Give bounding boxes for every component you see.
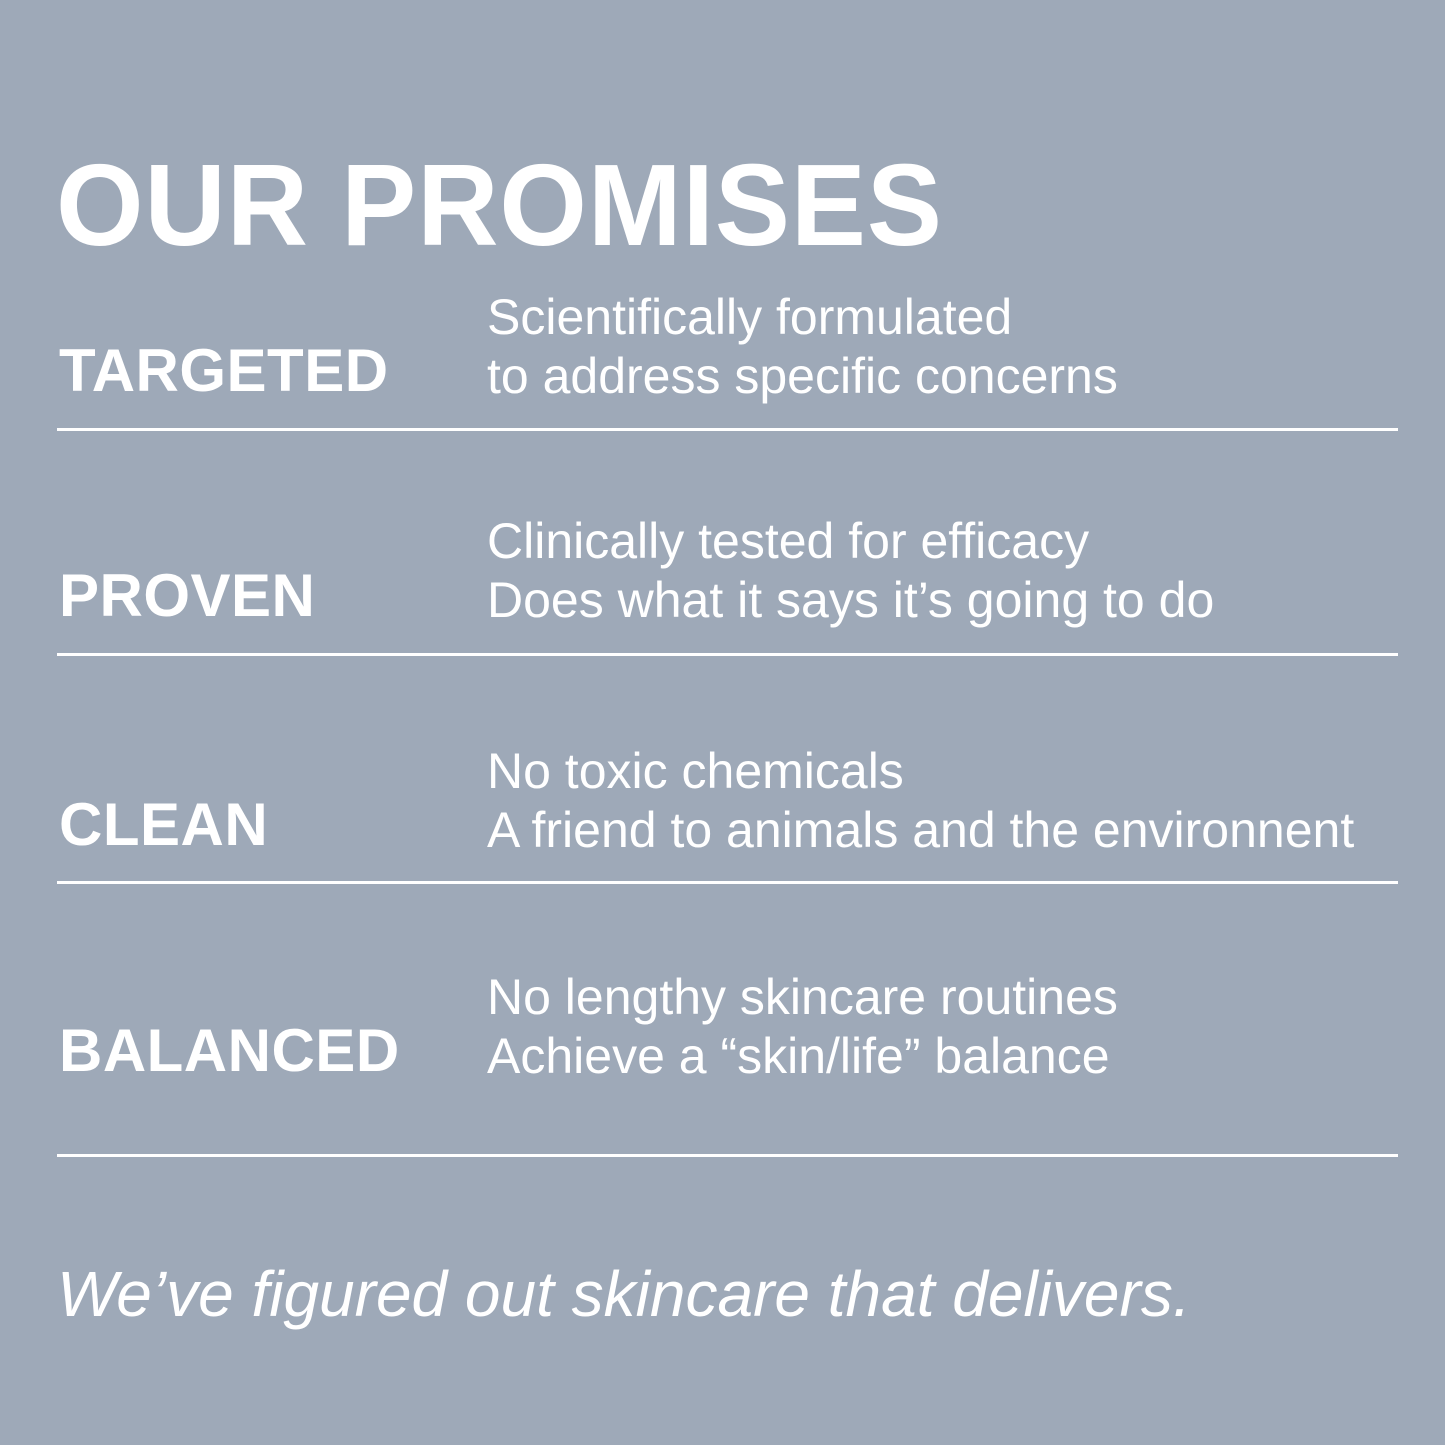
promises-poster: OUR PROMISES TARGETED Scientifically for… [0,0,1445,1445]
promise-description-line: Scientifically formulated [487,288,1118,347]
promise-description-proven: Clinically tested for efficacy Does what… [487,512,1214,630]
promise-description-balanced: No lengthy skincare routines Achieve a “… [487,968,1118,1086]
promise-label-proven: PROVEN [59,566,315,626]
promise-description-line: A friend to animals and the environnent [487,801,1354,860]
divider [57,1154,1398,1157]
promise-description-line: Achieve a “skin/life” balance [487,1027,1118,1086]
promise-label-clean: CLEAN [59,795,268,855]
promise-label-balanced: BALANCED [59,1021,400,1081]
promise-description-line: Does what it says it’s going to do [487,571,1214,630]
promise-description-line: Clinically tested for efficacy [487,512,1214,571]
promise-description-targeted: Scientifically formulated to address spe… [487,288,1118,406]
divider [57,881,1398,884]
promise-label-targeted: TARGETED [59,341,389,401]
divider [57,428,1398,431]
footer-tagline: We’ve figured out skincare that delivers… [57,1258,1191,1330]
promise-description-line: to address specific concerns [487,347,1118,406]
promise-description-line: No toxic chemicals [487,742,1354,801]
divider [57,653,1398,656]
page-title: OUR PROMISES [56,146,943,264]
promise-description-line: No lengthy skincare routines [487,968,1118,1027]
promise-description-clean: No toxic chemicals A friend to animals a… [487,742,1354,860]
